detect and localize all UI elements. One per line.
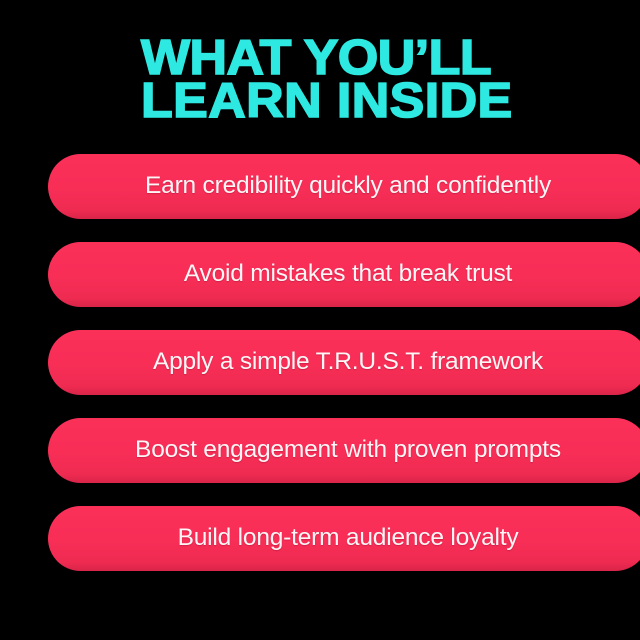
page-title: WHAT YOU’LL LEARN INSIDE xyxy=(141,38,640,124)
page-title-line-2: LEARN INSIDE xyxy=(141,81,640,124)
benefit-pill-label: Avoid mistakes that break trust xyxy=(184,262,512,287)
benefit-pill-3[interactable]: Apply a simple T.R.U.S.T. framework xyxy=(48,330,640,395)
benefit-pill-5[interactable]: Build long-term audience loyalty xyxy=(48,506,640,571)
benefit-pill-label: Earn credibility quickly and confidently xyxy=(145,174,551,199)
benefit-pill-list: Earn credibility quickly and confidently… xyxy=(48,154,640,571)
benefit-pill-2[interactable]: Avoid mistakes that break trust xyxy=(48,242,640,307)
benefit-pill-label: Apply a simple T.R.U.S.T. framework xyxy=(153,350,543,375)
benefit-pill-1[interactable]: Earn credibility quickly and confidently xyxy=(48,154,640,219)
benefit-pill-label: Boost engagement with proven prompts xyxy=(135,438,561,463)
benefit-pill-4[interactable]: Boost engagement with proven prompts xyxy=(48,418,640,483)
slide-canvas: WHAT YOU’LL LEARN INSIDE Earn credibilit… xyxy=(0,0,640,640)
benefit-pill-label: Build long-term audience loyalty xyxy=(178,526,519,551)
